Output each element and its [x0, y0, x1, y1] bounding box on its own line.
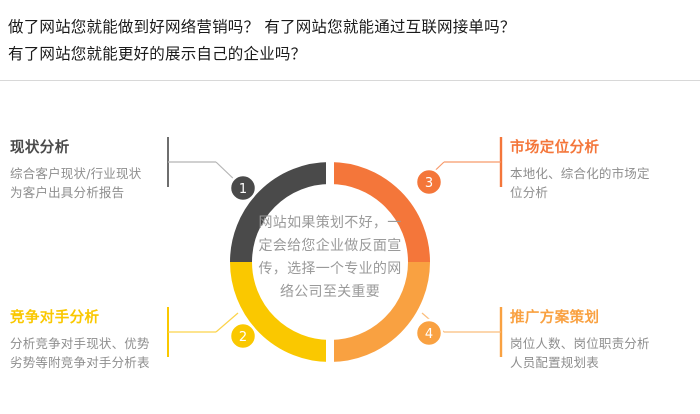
diagram-stage: 1 2 3 4 网站如果策划不好，一 定会给您企业做反面宣 传，选择一个专业的网…: [0, 81, 700, 414]
page-header: 做了网站您就能做到好网络营销吗？ 有了网站您就能通过互联网接单吗？ 有了网站您就…: [0, 0, 700, 68]
step-info-2-title: 竞争对手分析: [10, 308, 190, 328]
step-info-1-desc-line-1: 综合客户现状/行业现状: [10, 164, 180, 183]
center-caption-line-1: 网站如果策划不好，一: [248, 212, 412, 235]
center-caption-line-4: 络公司至关重要: [248, 281, 412, 304]
step-badge-1[interactable]: 1: [230, 175, 256, 201]
step-info-4[interactable]: 推广方案策划 岗位人数、岗位职责分析 人员配置规划表: [510, 308, 690, 372]
donut-gap-bottom: [326, 335, 334, 367]
header-line-2: 有了网站您就能更好的展示自己的企业吗？: [8, 41, 692, 68]
step-info-1-desc-line-2: 为客户出具分析报告: [10, 183, 180, 202]
step-badge-4[interactable]: 4: [416, 320, 442, 346]
step-info-3-title: 市场定位分析: [510, 138, 690, 158]
header-line-1: 做了网站您就能做到好网络营销吗？ 有了网站您就能通过互联网接单吗？: [8, 14, 692, 41]
donut-gap-top: [326, 157, 334, 189]
step-info-1-description: 综合客户现状/行业现状 为客户出具分析报告: [10, 164, 180, 202]
step-info-4-description: 岗位人数、岗位职责分析 人员配置规划表: [510, 334, 690, 372]
center-caption-line-2: 定会给您企业做反面宣: [248, 235, 412, 258]
step-info-4-desc-line-2: 人员配置规划表: [510, 353, 690, 372]
step-info-2-desc-line-1: 分析竞争对手现状、优势: [10, 334, 190, 353]
step-badge-4-number: 4: [425, 327, 433, 342]
step-info-3-desc-line-2: 位分析: [510, 183, 690, 202]
step-badge-1-number: 1: [239, 182, 247, 197]
center-caption-line-3: 传，选择一个专业的网: [248, 258, 412, 281]
step-badge-3[interactable]: 3: [416, 169, 442, 195]
step-info-4-title: 推广方案策划: [510, 308, 690, 328]
step-badge-2[interactable]: 2: [230, 323, 256, 349]
step-info-3-description: 本地化、综合化的市场定 位分析: [510, 164, 690, 202]
step-info-1[interactable]: 现状分析 综合客户现状/行业现状 为客户出具分析报告: [10, 138, 180, 202]
center-caption: 网站如果策划不好，一 定会给您企业做反面宣 传，选择一个专业的网 络公司至关重要: [248, 212, 412, 304]
step-badge-3-number: 3: [425, 176, 433, 191]
step-info-2-description: 分析竞争对手现状、优势 劣势等附竞争对手分析表: [10, 334, 190, 372]
step-info-4-desc-line-1: 岗位人数、岗位职责分析: [510, 334, 690, 353]
step-info-1-title: 现状分析: [10, 138, 180, 158]
step-info-2-desc-line-2: 劣势等附竞争对手分析表: [10, 353, 190, 372]
step-badge-2-number: 2: [239, 330, 247, 345]
step-info-2[interactable]: 竞争对手分析 分析竞争对手现状、优势 劣势等附竞争对手分析表: [10, 308, 190, 372]
step-info-3[interactable]: 市场定位分析 本地化、综合化的市场定 位分析: [510, 138, 690, 202]
step-info-3-desc-line-1: 本地化、综合化的市场定: [510, 164, 690, 183]
